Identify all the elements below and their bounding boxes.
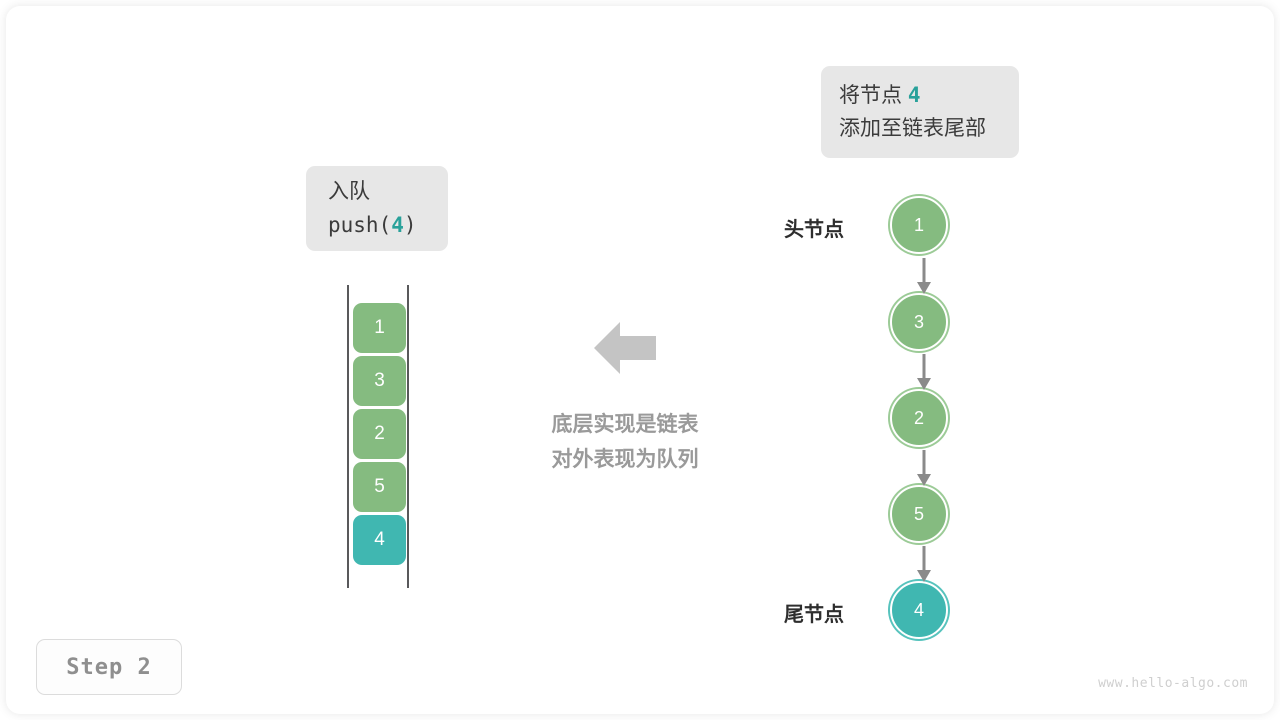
watermark: www.hello-algo.com: [1098, 676, 1248, 691]
queue-cell: 5: [353, 462, 406, 512]
connector-arrow-icon: [915, 450, 933, 488]
note-push-suffix: ): [404, 213, 417, 237]
queue-column: 1 3 2 5 4: [330, 280, 430, 590]
note-push: 入队 push(4): [306, 166, 448, 251]
list-node: 2: [890, 389, 948, 447]
queue-cell-highlight: 4: [353, 515, 406, 565]
queue-cell: 3: [353, 356, 406, 406]
queue-rail-right: [407, 285, 409, 588]
list-node: 3: [890, 293, 948, 351]
note-push-value: 4: [391, 213, 404, 237]
list-node: 5: [890, 485, 948, 543]
head-node-label: 头节点: [784, 213, 844, 242]
note-push-prefix: push(: [328, 213, 391, 237]
note-append-line2: 添加至链表尾部: [839, 113, 1019, 146]
step-badge: Step 2: [36, 639, 182, 695]
diagram-canvas: 入队 push(4) 将节点 4 添加至链表尾部 1 3 2 5 4 底层实现是…: [0, 0, 1280, 720]
connector-arrow-icon: [915, 354, 933, 392]
middle-caption-line1: 底层实现是链表: [500, 408, 750, 443]
queue-rail-left: [347, 285, 349, 588]
tail-node-label: 尾节点: [784, 598, 844, 627]
queue-cell: 1: [353, 303, 406, 353]
connector-arrow-icon: [915, 258, 933, 296]
note-append-prefix: 将节点: [839, 84, 908, 107]
note-push-line1: 入队: [328, 176, 448, 209]
queue-cell: 2: [353, 409, 406, 459]
list-node: 1: [890, 196, 948, 254]
note-append-value: 4: [908, 83, 921, 107]
note-append: 将节点 4 添加至链表尾部: [821, 66, 1019, 158]
middle-caption-line2: 对外表现为队列: [500, 443, 750, 478]
note-push-line2: push(4): [328, 209, 448, 242]
list-node-highlight: 4: [890, 581, 948, 639]
connector-arrow-icon: [915, 546, 933, 584]
linked-list: 头节点 尾节点 1 3 2 5 4: [770, 180, 1000, 650]
note-append-line1: 将节点 4: [839, 79, 1019, 113]
arrow-left-icon: [594, 320, 656, 376]
middle-caption: 底层实现是链表 对外表现为队列: [500, 408, 750, 477]
